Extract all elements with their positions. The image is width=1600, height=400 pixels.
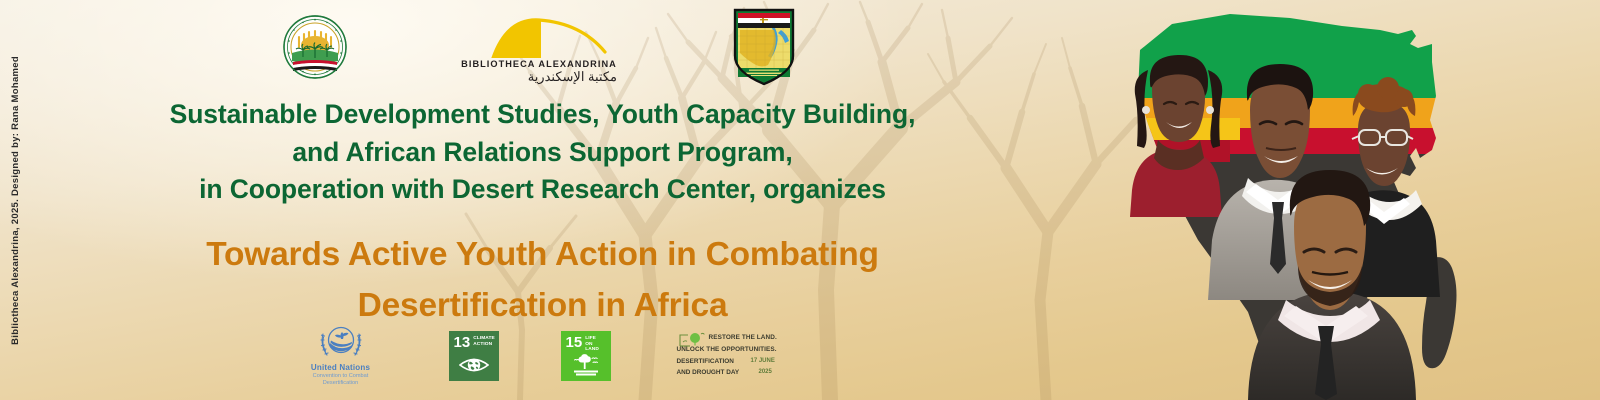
sdg-15-number: 15 (566, 336, 583, 349)
ddd-line-1: RESTORE THE LAND. (709, 334, 777, 341)
unccd-logo: United Nations Convention to Combat Dese… (295, 321, 387, 391)
unccd-line-2: Convention to Combat Desertification (295, 373, 387, 388)
bottom-logo-row: United Nations Convention to Combat Dese… (0, 318, 1085, 394)
madagascar-silhouette (1422, 257, 1457, 368)
ba-arabic-text: مكتبة الإسكندرية (528, 70, 617, 84)
sdg-15-label: LIFE ON LAND (585, 336, 605, 353)
event-banner: Bibliotheca Alexandrina, 2025. Designed … (0, 0, 1600, 400)
sdg-13-head: 13 CLIMATE ACTION (454, 336, 494, 349)
ddd-line-2: UNLOCK THE OPPORTUNITIES. (677, 346, 777, 353)
sdg-13-number: 13 (454, 336, 471, 349)
ddd-date-year: 2025 (759, 369, 772, 375)
sdg-13-label-line-1: CLIMATE (473, 336, 495, 342)
desert-research-center-seal-icon (283, 15, 347, 79)
ba-arc-icon (455, 14, 623, 58)
unccd-emblem-icon (318, 321, 364, 361)
desert-research-center-shield-icon (731, 8, 797, 86)
ba-latin-text: BIBLIOTHECA ALEXANDRINA (461, 59, 617, 69)
desertification-drought-day-lockup: RESTORE THE LAND. UNLOCK THE OPPORTUNITI… (673, 329, 791, 383)
title-line-1: Towards Active Youth Action in Combating (0, 230, 1085, 281)
subtitle-line-2: and African Relations Support Program, (0, 134, 1085, 172)
subtitle-block: Sustainable Development Studies, Youth C… (0, 96, 1085, 209)
person-woman-left (1130, 55, 1222, 217)
sdg-13-label: CLIMATE ACTION (473, 336, 495, 347)
top-logo-row: BIBLIOTHECA ALEXANDRINA مكتبة الإسكندرية (0, 6, 1080, 88)
climate-eye-globe-icon (459, 353, 489, 377)
sdg-15-label-line-2: ON LAND (585, 342, 605, 353)
ddd-date-day-month: 17 JUNE (751, 358, 775, 364)
ddd-line-4: AND DROUGHT DAY (677, 369, 740, 376)
sdg-15-life-on-land-tile: 15 LIFE ON LAND (561, 331, 611, 381)
ddd-line-3: DESERTIFICATION (677, 358, 734, 365)
africa-landmass (1120, 0, 1460, 400)
unccd-line-1: United Nations (311, 363, 370, 372)
person-woman-right (1326, 77, 1440, 304)
person-man-center-left (1208, 64, 1344, 300)
sdg-13-climate-action-tile: 13 CLIMATE ACTION (449, 331, 499, 381)
tree-birds-ground-icon (571, 353, 601, 377)
sdg-13-label-line-2: ACTION (473, 342, 495, 348)
subtitle-line-1: Sustainable Development Studies, Youth C… (0, 96, 1085, 134)
title-block: Towards Active Youth Action in Combating… (0, 230, 1085, 332)
bibliotheca-alexandrina-logo: BIBLIOTHECA ALEXANDRINA مكتبة الإسكندرية (455, 10, 623, 84)
sdg-15-head: 15 LIFE ON LAND (566, 336, 606, 353)
person-man-front (1248, 170, 1416, 400)
headings-block: Sustainable Development Studies, Youth C… (0, 96, 1085, 332)
subtitle-line-3: in Cooperation with Desert Research Cent… (0, 171, 1085, 209)
africa-map-with-youth-artwork (1080, 0, 1600, 400)
